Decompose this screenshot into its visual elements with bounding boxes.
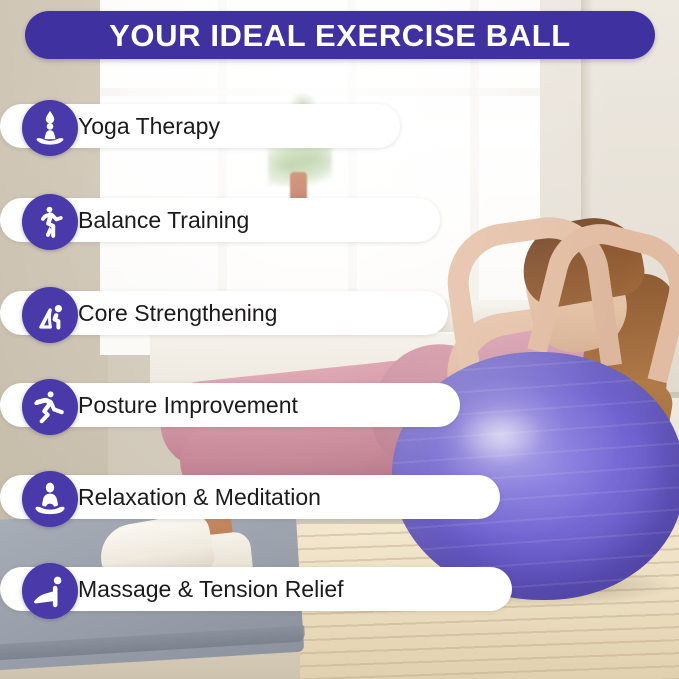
product-feature-poster: YOUR IDEAL EXERCISE BALL Yoga Therapy xyxy=(0,0,679,679)
warrior-pose-icon xyxy=(22,379,78,435)
meditation-seated-icon xyxy=(22,471,78,527)
feature-label: Massage & Tension Relief xyxy=(78,578,344,601)
feature-label: Relaxation & Meditation xyxy=(78,486,321,509)
massage-stretch-icon xyxy=(22,563,78,619)
feature-label: Yoga Therapy xyxy=(78,115,220,138)
feature-label: Posture Improvement xyxy=(78,394,298,417)
yoga-lotus-arms-up-icon xyxy=(22,100,78,156)
feature-list: Yoga Therapy Balance Training xyxy=(0,0,679,679)
core-plank-icon xyxy=(22,287,78,343)
feature-label: Core Strengthening xyxy=(78,302,277,325)
balance-standing-pose-icon xyxy=(22,194,78,250)
feature-label: Balance Training xyxy=(78,209,249,232)
